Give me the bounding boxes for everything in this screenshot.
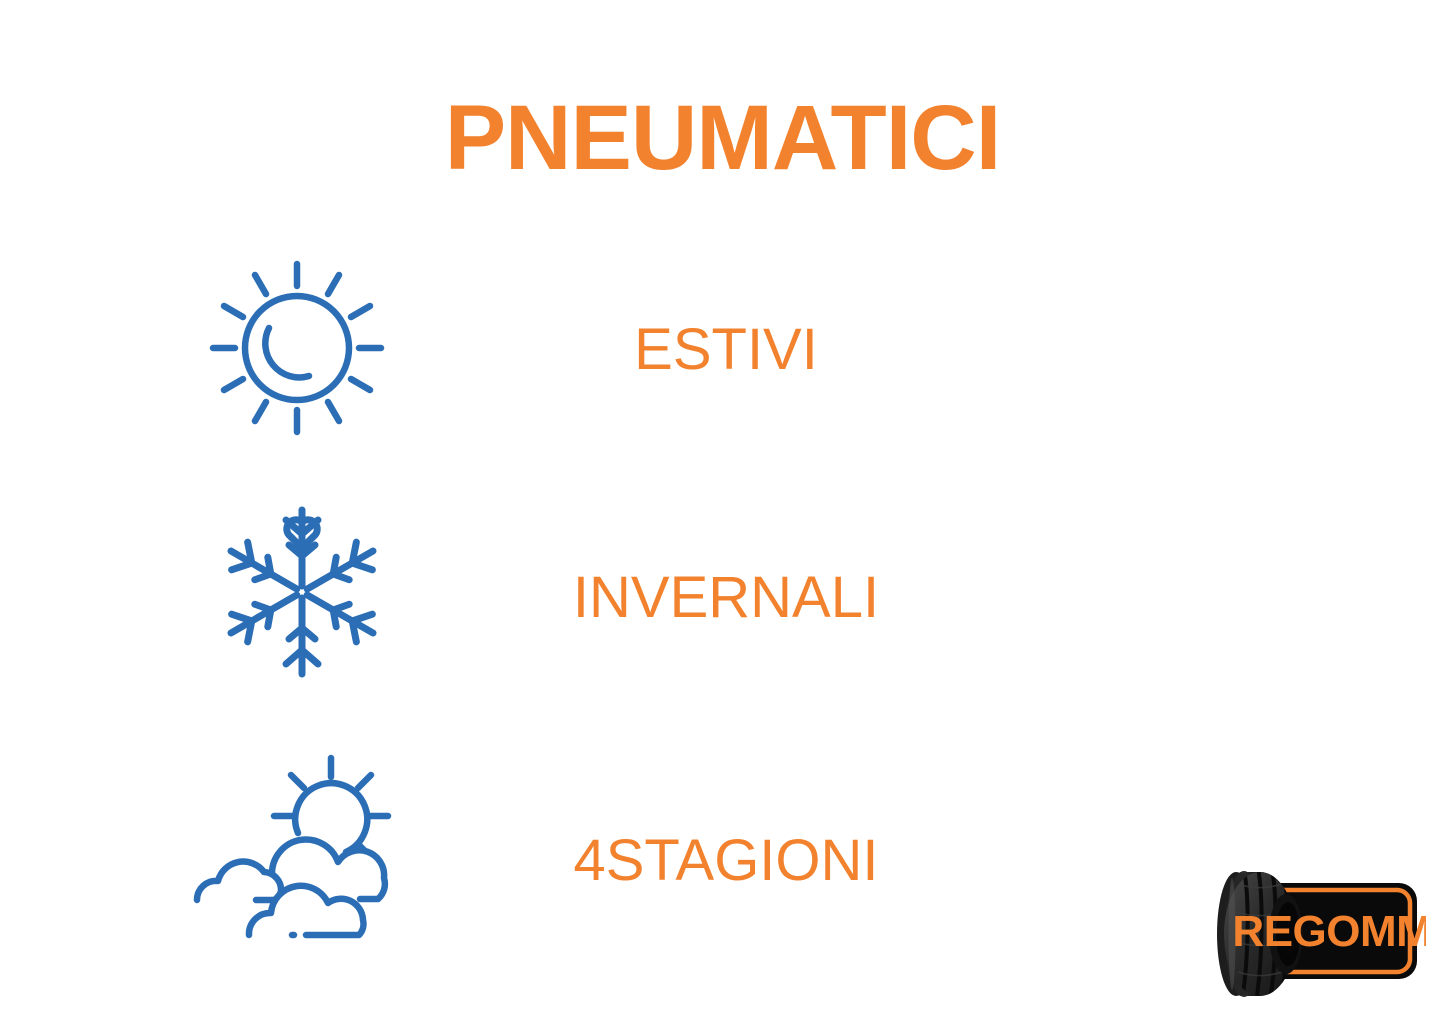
- infographic-canvas: PNEUMATICI: [0, 0, 1445, 1022]
- sun-icon: [197, 250, 397, 446]
- tyre-type-label-invernali: INVERNALI: [446, 569, 1006, 627]
- sun-behind-clouds-icon: [188, 750, 403, 946]
- tyre-type-row-estivi: ESTIVI: [0, 248, 1445, 448]
- tyre-type-label-estivi: ESTIVI: [446, 321, 1006, 379]
- brand-logo-regomma[interactable]: REGOMMA: [1198, 860, 1426, 1008]
- snowflake-icon: [212, 502, 392, 682]
- tyre-type-row-invernali: INVERNALI: [0, 492, 1445, 692]
- logo-wordmark: REGOMMA: [1232, 907, 1426, 956]
- page-title: PNEUMATICI: [0, 92, 1445, 184]
- tyre-type-label-4stagioni: 4STAGIONI: [446, 832, 1006, 890]
